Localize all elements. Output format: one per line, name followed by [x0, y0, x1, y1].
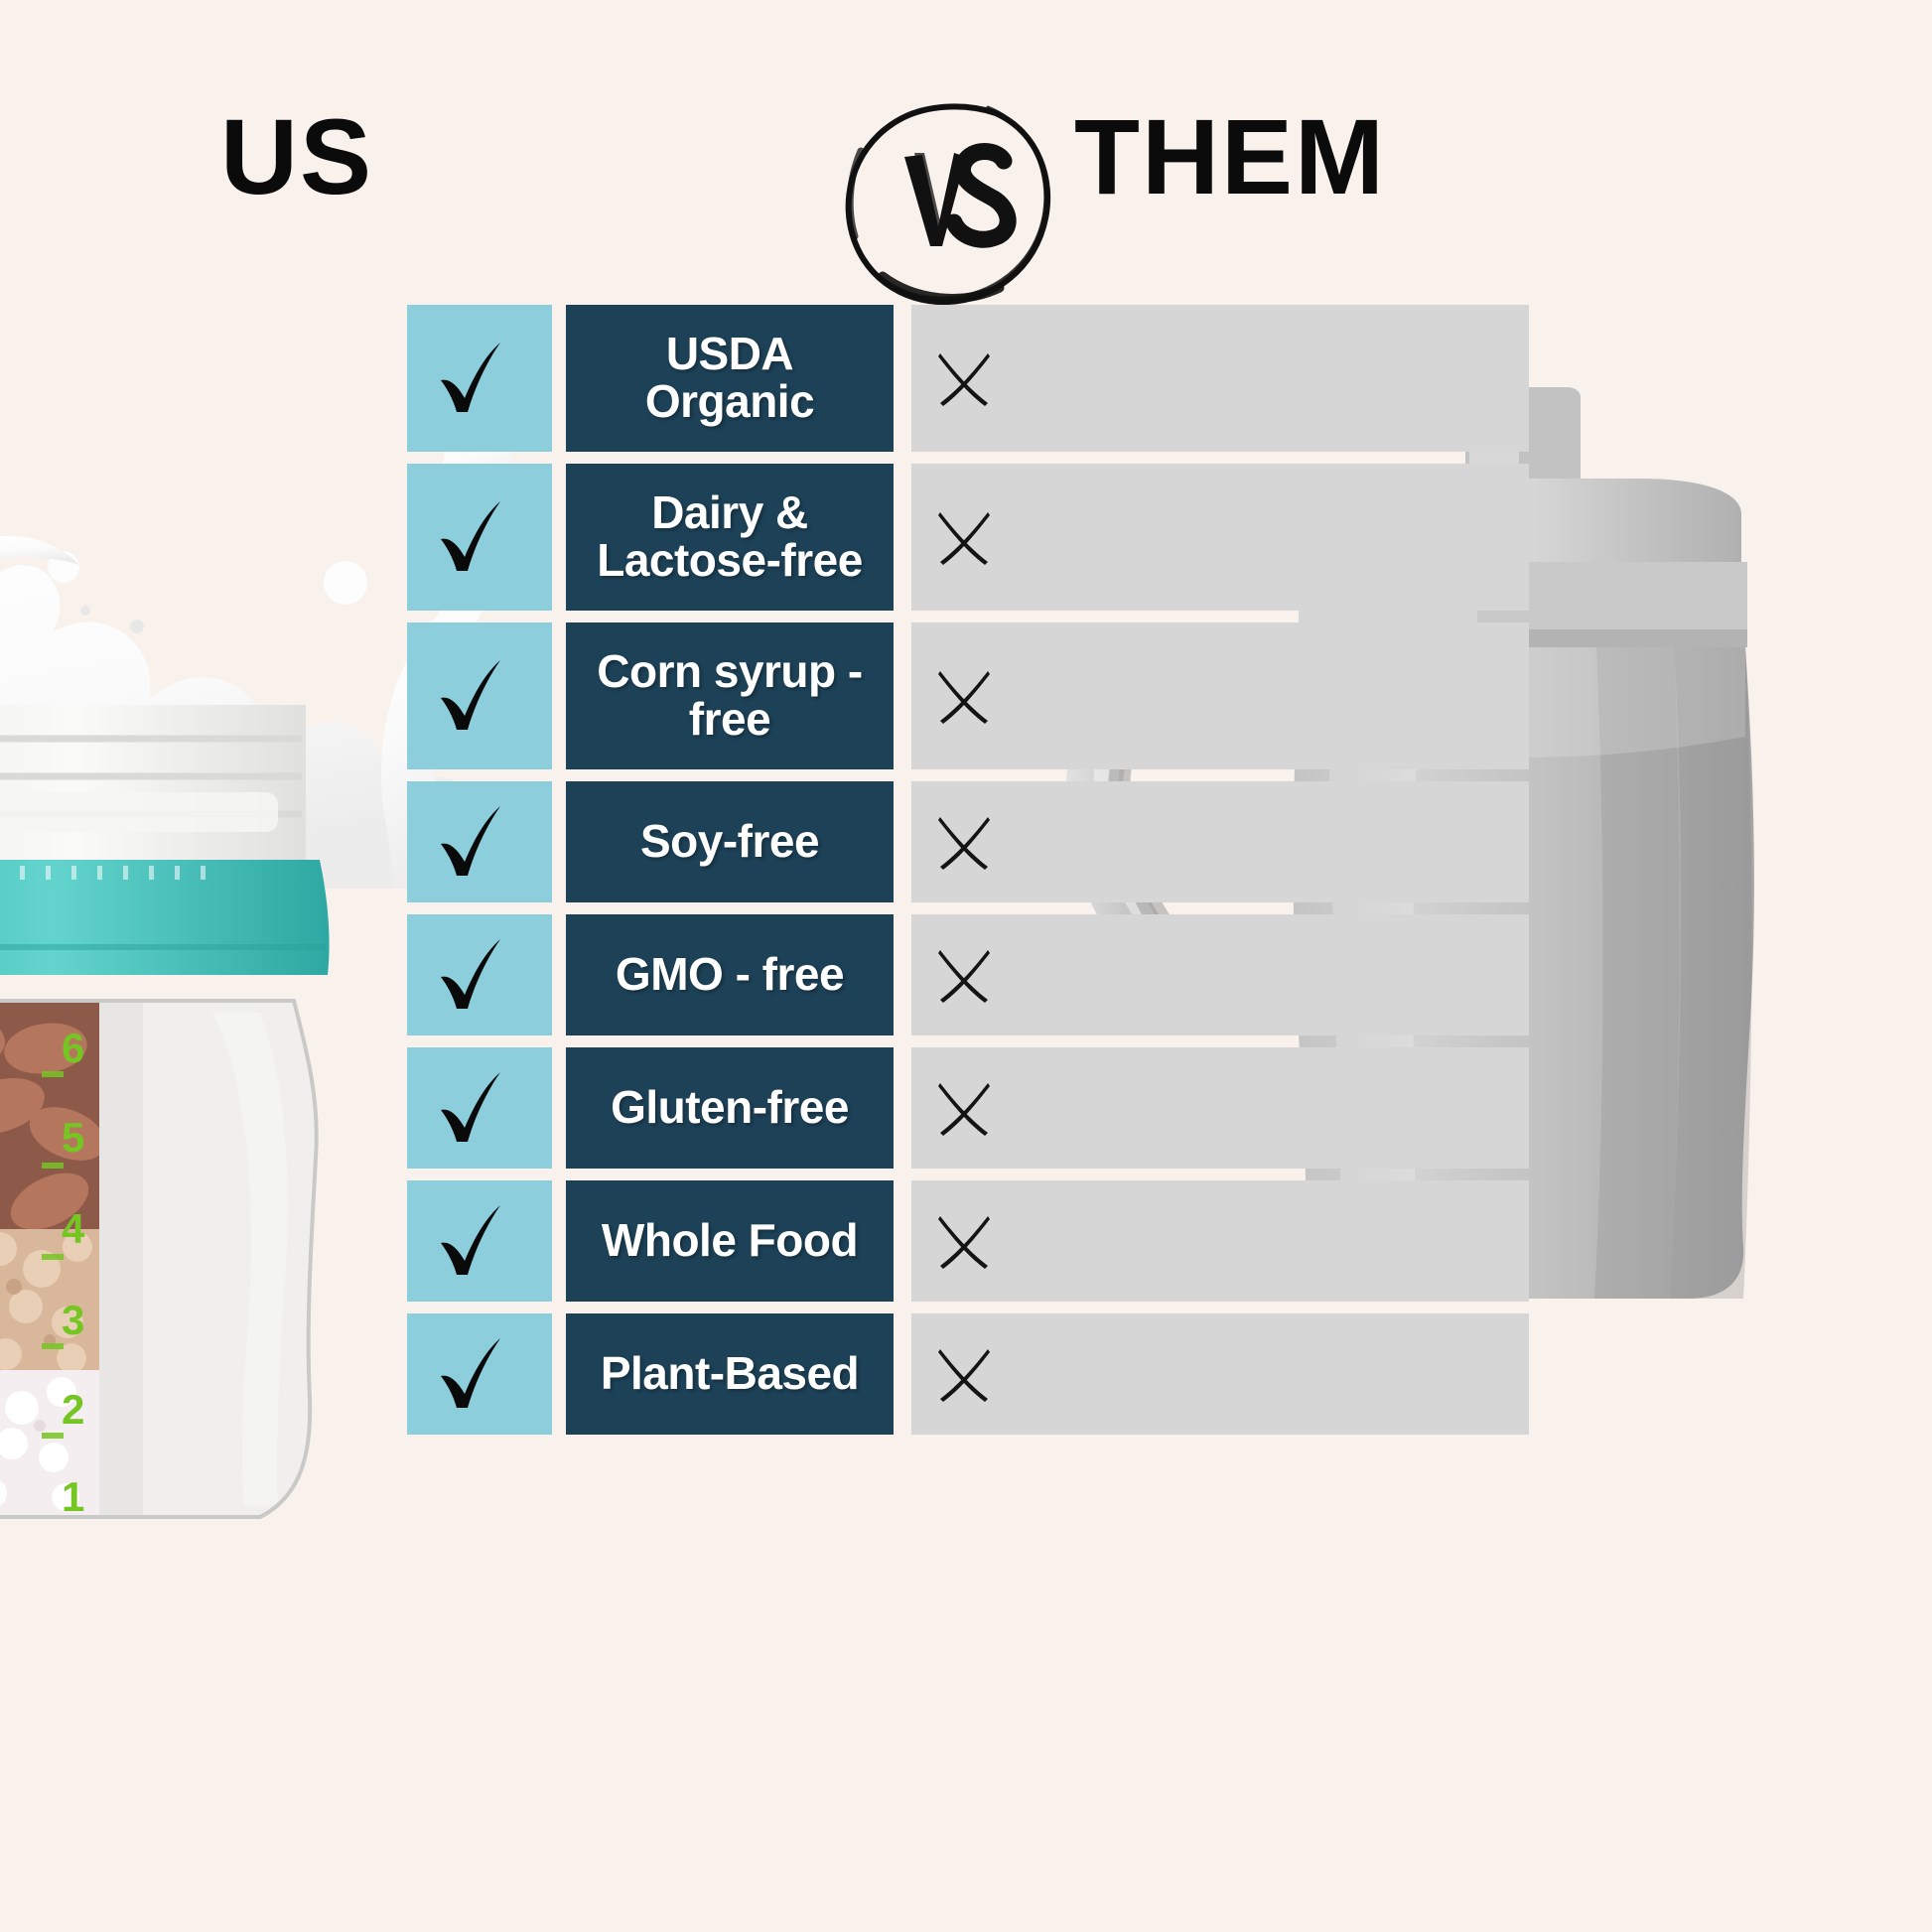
us-check-cell	[407, 1047, 552, 1169]
check-mark-icon	[435, 1068, 508, 1148]
check-mark-icon	[435, 339, 508, 418]
feature-label: Dairy &Lactose-free	[597, 489, 863, 585]
feature-label-cell: Soy-free	[566, 781, 894, 902]
us-check-cell	[407, 305, 552, 452]
them-cross-cell	[911, 1313, 1529, 1435]
us-check-cell	[407, 1313, 552, 1435]
feature-label-cell: Corn syrup -free	[566, 622, 894, 769]
check-mark-icon	[435, 656, 508, 736]
cross-mark-icon	[933, 506, 995, 568]
cross-mark-icon	[933, 347, 995, 409]
check-mark-icon	[435, 935, 508, 1015]
feature-label-cell: GMO - free	[566, 914, 894, 1035]
check-mark-icon	[435, 802, 508, 882]
feature-label: Whole Food	[602, 1217, 858, 1265]
feature-label-cell: Plant-Based	[566, 1313, 894, 1435]
check-mark-icon	[435, 1334, 508, 1414]
feature-label-cell: Whole Food	[566, 1180, 894, 1302]
them-cross-cell	[911, 914, 1529, 1035]
infographic-canvas: 6 5 4 3 2 1	[0, 0, 1932, 1932]
us-check-cell	[407, 914, 552, 1035]
cross-mark-icon	[933, 1210, 995, 1272]
feature-label: GMO - free	[616, 951, 844, 999]
check-mark-icon	[435, 497, 508, 577]
them-cross-cell	[911, 622, 1529, 769]
feature-label: Gluten-free	[611, 1084, 849, 1132]
them-cross-cell	[911, 1047, 1529, 1169]
feature-label: Soy-free	[640, 818, 819, 866]
cross-mark-icon	[933, 665, 995, 727]
feature-label-cell: Gluten-free	[566, 1047, 894, 1169]
them-cross-cell	[911, 1180, 1529, 1302]
feature-label-cell: USDAOrganic	[566, 305, 894, 452]
check-mark-icon	[435, 1201, 508, 1281]
them-cross-cell	[911, 464, 1529, 611]
us-check-cell	[407, 622, 552, 769]
comparison-table: USDAOrganic Dairy &Lactose-free Corn syr…	[0, 0, 1932, 1932]
us-check-cell	[407, 781, 552, 902]
cross-mark-icon	[933, 944, 995, 1006]
them-cross-cell	[911, 305, 1529, 452]
feature-label: USDAOrganic	[645, 331, 814, 426]
them-cross-cell	[911, 781, 1529, 902]
us-check-cell	[407, 464, 552, 611]
cross-mark-icon	[933, 1343, 995, 1405]
us-check-cell	[407, 1180, 552, 1302]
cross-mark-icon	[933, 1077, 995, 1139]
cross-mark-icon	[933, 811, 995, 873]
feature-label-cell: Dairy &Lactose-free	[566, 464, 894, 611]
feature-label: Corn syrup -free	[597, 648, 862, 744]
feature-label: Plant-Based	[601, 1350, 859, 1398]
